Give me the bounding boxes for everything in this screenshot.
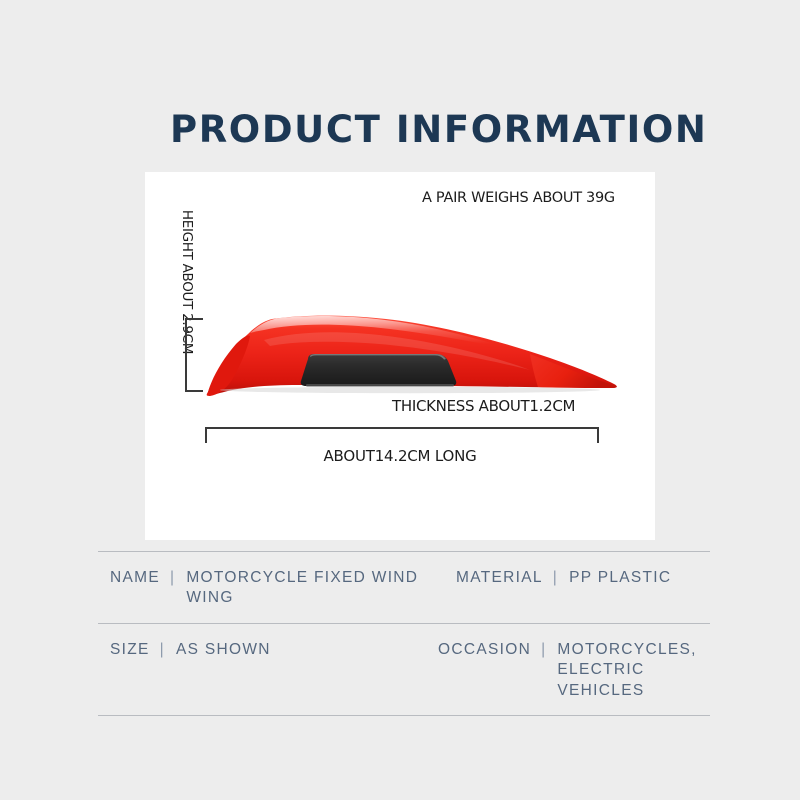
spec-divider-bottom	[98, 715, 710, 716]
product-information-page: PRODUCT INFORMATION A PAIR WEIGHS ABOUT …	[0, 0, 800, 800]
wing-shadow	[220, 387, 600, 393]
spec-key-size: SIZE	[110, 640, 150, 660]
mounting-pad-base-strip	[306, 384, 454, 387]
spec-key-name: NAME	[110, 568, 160, 588]
spec-separator: |	[150, 640, 176, 660]
spec-value-material: PP PLASTIC	[569, 568, 710, 588]
spec-cell-name: NAME | MOTORCYCLE FIXED WIND WING	[98, 568, 438, 609]
spec-separator: |	[160, 568, 186, 588]
page-title: PRODUCT INFORMATION	[170, 108, 707, 151]
weight-annotation: A PAIR WEIGHS ABOUT 39G	[422, 190, 615, 206]
spec-cell-material: MATERIAL | PP PLASTIC	[438, 568, 710, 588]
wing-right-tip	[530, 354, 617, 388]
spec-cell-size: SIZE | AS SHOWN	[98, 640, 438, 660]
length-dimension-bracket	[205, 427, 599, 443]
length-annotation: ABOUT14.2CM LONG	[205, 447, 595, 465]
spec-separator: |	[531, 640, 557, 660]
spec-key-material: MATERIAL	[456, 568, 543, 588]
specification-table: NAME | MOTORCYCLE FIXED WIND WING MATERI…	[98, 551, 710, 716]
product-image-card: A PAIR WEIGHS ABOUT 39G HEIGHT ABOUT 2.9…	[145, 172, 655, 540]
thickness-annotation: THICKNESS ABOUT1.2CM	[392, 397, 575, 415]
product-illustration	[190, 300, 620, 410]
spec-value-size: AS SHOWN	[176, 640, 438, 660]
spec-separator: |	[543, 568, 569, 588]
table-row: NAME | MOTORCYCLE FIXED WIND WING MATERI…	[98, 552, 710, 623]
spec-key-occasion: OCCASION	[438, 640, 531, 660]
mounting-pad	[301, 354, 457, 386]
spec-cell-occasion: OCCASION | MOTORCYCLES, ELECTRIC VEHICLE…	[438, 640, 710, 701]
table-row: SIZE | AS SHOWN OCCASION | MOTORCYCLES, …	[98, 624, 710, 715]
spec-value-name: MOTORCYCLE FIXED WIND WING	[186, 568, 438, 609]
spec-value-occasion: MOTORCYCLES, ELECTRIC VEHICLES	[557, 640, 710, 701]
